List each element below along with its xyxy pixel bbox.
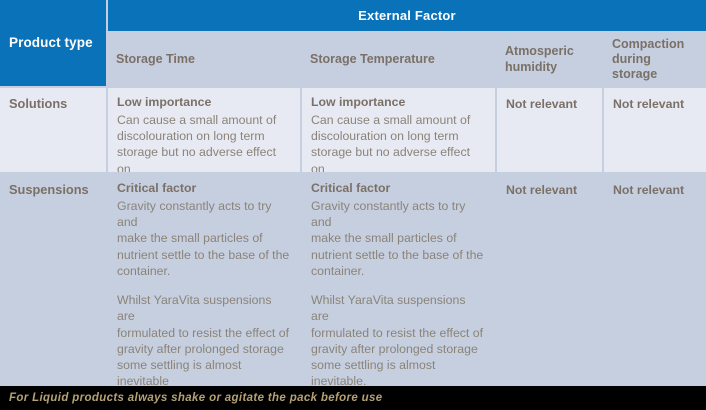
- column-header-atmosperic-humidity: Atmosperic humidity: [497, 33, 602, 86]
- cell-solutions-atmosperic-humidity: Not relevant: [497, 88, 602, 172]
- cell-title: Not relevant: [613, 97, 684, 111]
- cell-suspensions-storage-temperature: Critical factor Gravity constantly acts …: [302, 174, 495, 386]
- table-row: Solutions Low importance Can cause a sma…: [0, 88, 706, 172]
- cell-title: Not relevant: [613, 183, 684, 197]
- cell-solutions-compaction-during-storage: Not relevant: [604, 88, 706, 172]
- row-header-solutions: Solutions: [0, 88, 106, 172]
- row-header-label: Solutions: [9, 96, 67, 111]
- cell-title: Not relevant: [506, 97, 577, 111]
- column-header-label: Compaction during storage: [612, 37, 698, 83]
- cell-text: Gravity constantly acts to try and make …: [311, 198, 486, 279]
- column-header-label: Atmosperic humidity: [505, 44, 594, 75]
- column-header-storage-temperature: Storage Temperature: [302, 33, 495, 86]
- cell-suspensions-atmosperic-humidity: Not relevant: [497, 174, 602, 386]
- column-header-storage-time: Storage Time: [108, 33, 300, 86]
- cell-text-secondary: Whilst YaraVita suspensions are formulat…: [311, 292, 486, 386]
- footer-message: For Liquid products always shake or agit…: [9, 392, 383, 404]
- footer-banner: For Liquid products always shake or agit…: [0, 386, 706, 410]
- cell-text: Gravity constantly acts to try and make …: [117, 198, 291, 279]
- cell-text: Can cause a small amount of discolourati…: [117, 112, 291, 172]
- group-header-label: External Factor: [358, 8, 456, 23]
- row-header-suspensions: Suspensions: [0, 174, 106, 386]
- cell-text: Can cause a small amount of discolourati…: [311, 112, 486, 172]
- corner-header-label: Product type: [9, 35, 93, 51]
- cell-title: Critical factor: [117, 181, 291, 197]
- cell-text-secondary: Whilst YaraVita suspensions are formulat…: [117, 292, 291, 386]
- corner-header-product-type: Product type: [0, 0, 106, 86]
- row-header-label: Suspensions: [9, 182, 89, 197]
- cell-title: Low importance: [117, 95, 291, 111]
- column-header-row: Storage Time Storage Temperature Atmospe…: [108, 33, 706, 86]
- storage-factor-table: Product type External Factor Storage Tim…: [0, 0, 706, 386]
- cell-solutions-storage-time: Low importance Can cause a small amount …: [108, 88, 300, 172]
- cell-suspensions-storage-time: Critical factor Gravity constantly acts …: [108, 174, 300, 386]
- cell-title: Not relevant: [506, 183, 577, 197]
- column-header-compaction-during-storage: Compaction during storage: [604, 33, 706, 86]
- column-header-label: Storage Time: [116, 52, 195, 67]
- cell-solutions-storage-temperature: Low importance Can cause a small amount …: [302, 88, 495, 172]
- column-header-label: Storage Temperature: [310, 52, 435, 67]
- cell-suspensions-compaction-during-storage: Not relevant: [604, 174, 706, 386]
- group-header-external-factor: External Factor: [108, 0, 706, 31]
- cell-title: Low importance: [311, 95, 486, 111]
- table-row: Suspensions Critical factor Gravity cons…: [0, 174, 706, 386]
- screenshot-root: Product type External Factor Storage Tim…: [0, 0, 706, 410]
- cell-title: Critical factor: [311, 181, 486, 197]
